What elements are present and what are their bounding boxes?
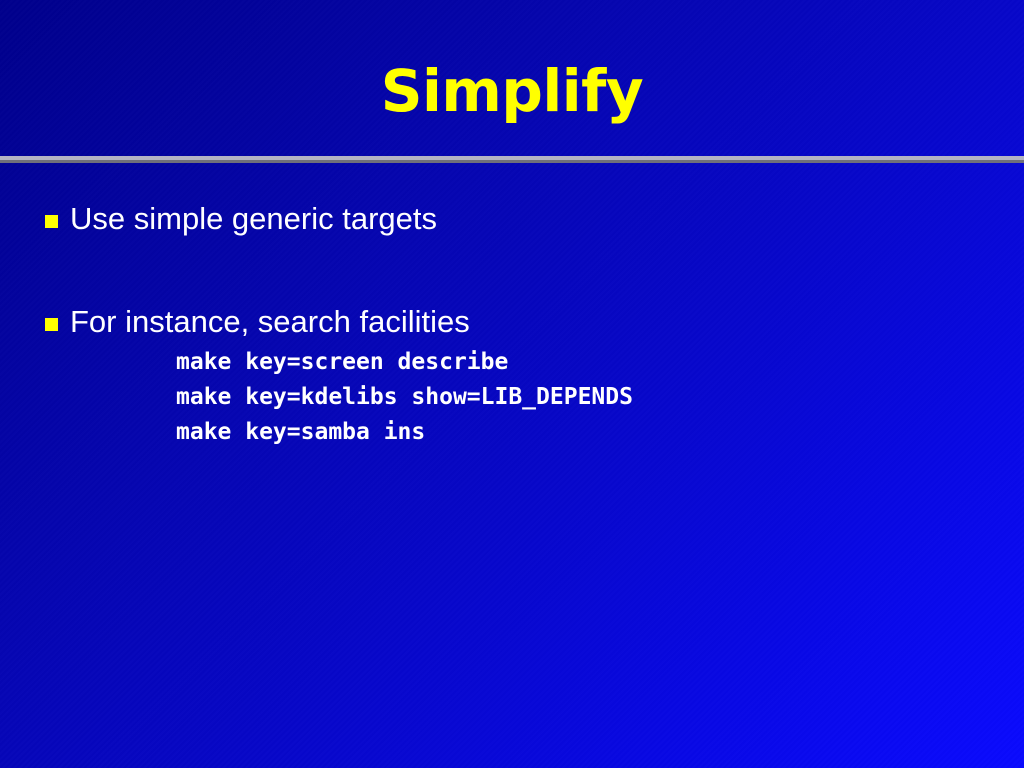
code-line: make key=kdelibs show=LIB_DEPENDS	[176, 380, 1024, 415]
slide-body: Use simple generic targets For instance,…	[0, 186, 1024, 450]
bullet-item-label: For instance, search facilities	[70, 305, 1024, 340]
page-title: Simplify	[0, 62, 1024, 120]
code-line: make key=samba ins	[176, 415, 1024, 450]
list-item: For instance, search facilities	[0, 305, 1024, 340]
presentation-slide: Simplify Use simple generic targets For …	[0, 0, 1024, 768]
divider-shadow-band	[0, 160, 1024, 163]
code-block: make key=screen describe make key=kdelib…	[0, 345, 1024, 450]
code-line: make key=screen describe	[176, 345, 1024, 380]
title-divider	[0, 156, 1024, 163]
slide-title-area: Simplify	[0, 62, 1024, 120]
square-bullet-icon	[45, 215, 58, 228]
square-bullet-icon	[45, 318, 58, 331]
list-item: Use simple generic targets	[0, 202, 1024, 237]
bullet-item-label: Use simple generic targets	[70, 202, 1024, 237]
